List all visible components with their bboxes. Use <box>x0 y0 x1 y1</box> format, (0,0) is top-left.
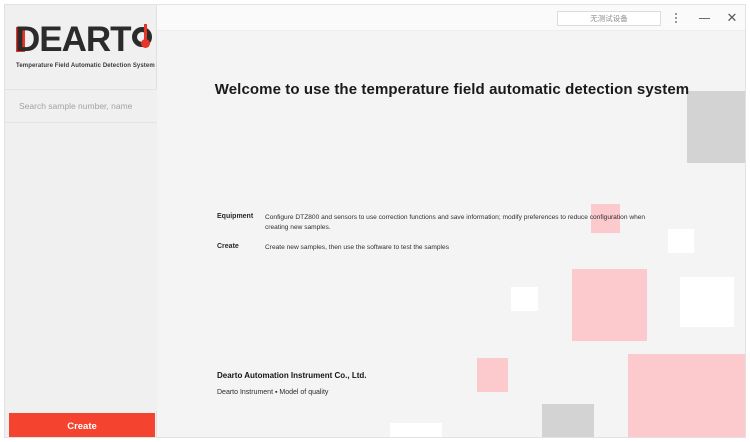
instructions-block: Equipment Configure DTZ800 and sensors t… <box>217 213 717 264</box>
title-bar: 无测试设备 ✕ <box>157 5 746 31</box>
logo-letter-d: D <box>15 22 39 57</box>
minimize-icon[interactable] <box>697 10 711 26</box>
company-slogan: Dearto Instrument ▪ Model of quality <box>217 389 366 396</box>
kebab-menu-icon[interactable] <box>669 10 683 26</box>
instruction-label-create: Create <box>217 243 261 250</box>
logo-thermometer-icon <box>131 22 158 57</box>
company-name: Dearto Automation Instrument Co., Ltd. <box>217 371 366 380</box>
logo-letters-eart: EART <box>39 22 130 57</box>
pink-square-large-bottom <box>628 354 746 437</box>
white-square-mid <box>511 287 538 311</box>
instruction-text-create: Create new samples, then use the softwar… <box>265 243 665 253</box>
pink-square-large-mid <box>572 269 647 341</box>
white-square-right <box>680 277 734 327</box>
search-input[interactable] <box>17 100 151 112</box>
search-row[interactable] <box>5 90 157 122</box>
white-square-bottom <box>390 423 442 437</box>
gray-square-top-right <box>687 91 745 163</box>
brand-logo: D EART Temperature Field Automatic Detec… <box>5 19 157 81</box>
instruction-label-equipment: Equipment <box>217 213 261 220</box>
logo-subtitle: Temperature Field Automatic Detection Sy… <box>16 63 156 69</box>
page-title: Welcome to use the temperature field aut… <box>157 81 746 98</box>
close-icon[interactable]: ✕ <box>725 10 739 26</box>
instruction-row: Equipment Configure DTZ800 and sensors t… <box>217 213 717 232</box>
gray-square-bottom <box>542 404 594 437</box>
sample-list[interactable] <box>5 123 157 411</box>
device-status-field[interactable]: 无测试设备 <box>557 11 661 26</box>
logo-d-glyph: D <box>15 20 39 59</box>
create-button[interactable]: Create <box>9 413 155 438</box>
sidebar: D EART Temperature Field Automatic Detec… <box>5 5 157 437</box>
application-root: D EART Temperature Field Automatic Detec… <box>0 0 750 442</box>
pink-square-small-left <box>477 358 508 392</box>
instruction-text-equipment: Configure DTZ800 and sensors to use corr… <box>265 213 665 232</box>
main-window: D EART Temperature Field Automatic Detec… <box>4 4 746 438</box>
welcome-canvas: Welcome to use the temperature field aut… <box>157 31 746 437</box>
thermometer-bulb <box>141 39 150 48</box>
window-controls: ✕ <box>669 9 739 27</box>
main-panel: 无测试设备 ✕ Welcome to use the temperature f… <box>157 5 746 437</box>
footer-block: Dearto Automation Instrument Co., Ltd. D… <box>217 371 366 396</box>
logo-wordmark: D EART <box>15 19 158 59</box>
close-glyph: ✕ <box>727 12 738 25</box>
instruction-row: Create Create new samples, then use the … <box>217 243 717 253</box>
